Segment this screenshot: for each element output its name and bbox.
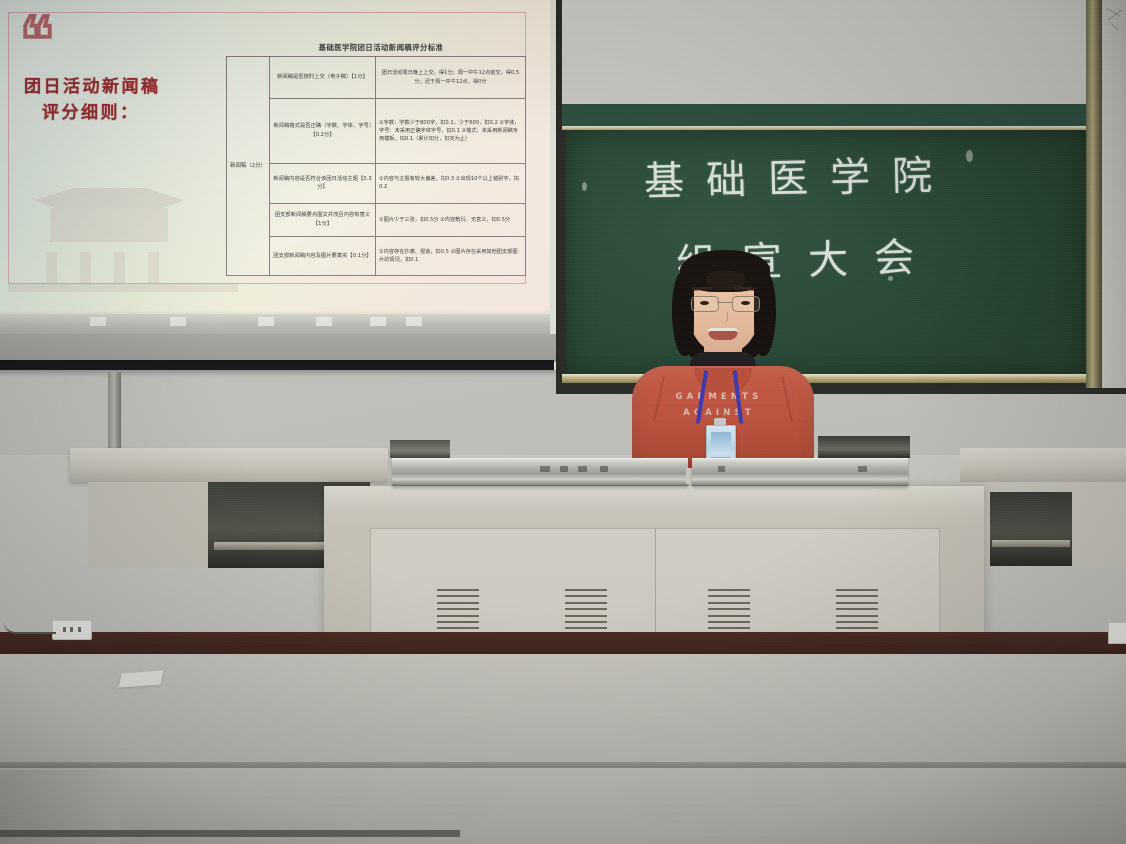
- side-desk-left: [70, 448, 388, 482]
- chalk-line-1: 基础医学院: [643, 143, 954, 207]
- slide-title-line-2: 评分细则：: [42, 100, 224, 126]
- presenter: GARMENTS AGAINST: [628, 246, 816, 474]
- badge-photo: [711, 432, 731, 454]
- quote-mark-icon: ❝: [20, 18, 49, 63]
- slide-title-line-1: 团日活动新闻稿: [24, 77, 161, 97]
- projection-fleck: [90, 317, 106, 326]
- slide-table: 新闻稿（2分） 新闻稿是否按时上交（电子稿）【1分】 团日活动周日晚上上交，得1…: [226, 56, 526, 276]
- blackboard-upper-panel: [562, 0, 1098, 109]
- desk-cavity-right: [990, 492, 1072, 566]
- drawer-rail-right: [692, 458, 908, 486]
- temple-watermark-icon: [4, 182, 244, 292]
- rail-marking: [858, 466, 867, 472]
- step-upper: [0, 654, 1126, 772]
- table-row: 团支部新闻稿内容及图片要真实【0.1分】 ①内容存在抄袭、捏造，扣0.5 ②图片…: [270, 237, 525, 275]
- wall-right-column: [1102, 0, 1126, 388]
- projection-fleck: [258, 317, 274, 326]
- table-cell-criterion: 团支部新闻稿内容及图片要真实【0.1分】: [270, 237, 376, 275]
- wall-scuff-icon: [1104, 4, 1126, 38]
- table-row: 新闻稿内容是否符合该团日活动主题【0.3分】 ①内容与主题有较大偏差，扣0.3 …: [270, 164, 525, 204]
- table-cell-detail: ①字数：字数少于800字，扣0.1，少于600，扣0.2 ②字体、字号：未采用正…: [376, 99, 525, 163]
- table-cell-detail: 团日活动周日晚上上交，得1分；周一中午12点前交，得0.5分；迟于周一中午12点…: [376, 57, 525, 98]
- table-row: 团支部新闻稿要点图文并茂且内容有意义【1分】 ①图片少于三张，扣0.5分 ②内容…: [270, 204, 525, 238]
- step-edge: [0, 830, 460, 837]
- projection-fleck: [316, 317, 332, 326]
- table-cell-detail: ①内容存在抄袭、捏造，扣0.5 ②图片存在采用其他团支部图片的情况，扣0.1: [376, 237, 525, 275]
- projection-fleck: [370, 317, 386, 326]
- hair-fringe: [680, 250, 770, 292]
- power-outlet-right[interactable]: [1108, 622, 1126, 644]
- table-cell-detail: ①内容与主题有较大偏差，扣0.3 ②出现10个以上错别字，扣0.2: [376, 164, 525, 203]
- nose: [720, 312, 728, 323]
- chalk-dust-mark: [582, 182, 587, 191]
- podium-top-surface: [324, 486, 984, 512]
- slide-title: 团日活动新闻稿 评分细则：: [24, 74, 224, 127]
- screen-support-rod: [108, 372, 121, 450]
- projection-surface: ❝ 团日活动新闻稿 评分细则： 基础医学院团日活动新闻稿评分标准 新闻稿（2分）…: [0, 0, 556, 370]
- rail-marking: [718, 466, 725, 472]
- blackboard-right-frame: [1086, 0, 1102, 388]
- rail-end-block: [818, 436, 910, 458]
- projection-screen: ❝ 团日活动新闻稿 评分细则： 基础医学院团日活动新闻稿评分标准 新闻稿（2分）…: [0, 0, 556, 370]
- screen-bottom-strip: [0, 334, 556, 362]
- screen-bottom-bar: [0, 360, 554, 370]
- table-cell-criterion: 新闻稿是否按时上交（电子稿）【1分】: [270, 57, 376, 98]
- power-cable: [4, 622, 56, 634]
- table-row: 新闻稿格式是否正确（字数、字体、字号）【0.2分】 ①字数：字数少于800字，扣…: [270, 99, 525, 164]
- rail-marking: [578, 466, 587, 472]
- rail-end-block: [390, 440, 450, 458]
- chalk-dust-mark: [888, 276, 893, 281]
- projection-fleck: [406, 317, 422, 326]
- projection-fleck: [170, 317, 186, 326]
- rail-marking: [600, 466, 608, 472]
- slide-table-title: 基础医学院团日活动新闻稿评分标准: [266, 42, 496, 53]
- table-row: 新闻稿是否按时上交（电子稿）【1分】 团日活动周日晚上上交，得1分；周一中午12…: [270, 57, 525, 99]
- table-row-label: 新闻稿（2分）: [227, 57, 270, 275]
- projected-slide: ❝ 团日活动新闻稿 评分细则： 基础医学院团日活动新闻稿评分标准 新闻稿（2分）…: [0, 0, 550, 314]
- side-desk-right: [960, 448, 1126, 482]
- table-cell-detail: ①图片少于三张，扣0.5分 ②内容敷衍、无意义，扣0.5分: [376, 204, 525, 237]
- mouth: [708, 328, 738, 340]
- drawer-rail-left: [392, 458, 688, 486]
- table-cell-criterion: 团支部新闻稿要点图文并茂且内容有意义【1分】: [270, 204, 376, 237]
- table-cell-criterion: 新闻稿内容是否符合该团日活动主题【0.3分】: [270, 164, 376, 203]
- projection-light-falloff: [0, 310, 550, 336]
- glasses-icon: [690, 296, 760, 311]
- rail-marking: [560, 466, 568, 472]
- chalk-dust-mark: [966, 150, 973, 162]
- cavity-rail-right: [992, 540, 1070, 547]
- table-cell-criterion: 新闻稿格式是否正确（字数、字体、字号）【0.2分】: [270, 99, 376, 163]
- sweater-text-line-2: AGAINST: [628, 408, 810, 418]
- rail-marking: [540, 466, 550, 472]
- sweater-text-line-1: GARMENTS: [628, 392, 810, 402]
- baseboard: [0, 632, 1126, 654]
- blackboard-upper-strip: [562, 104, 1098, 128]
- classroom-photo: 基础医学院 组宣大会 ❝: [0, 0, 1126, 844]
- power-outlet-left[interactable]: [52, 620, 92, 640]
